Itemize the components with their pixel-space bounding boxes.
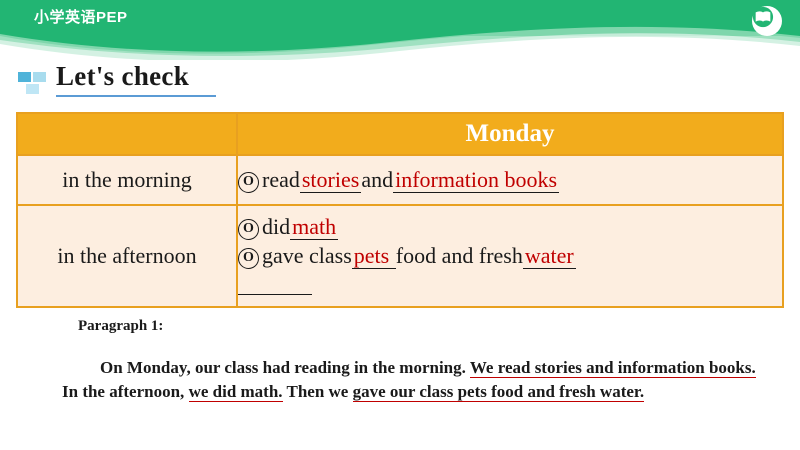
title-underline	[56, 95, 216, 97]
check-marker-icon: O	[238, 219, 259, 240]
paragraph-part1: On Monday, our class had reading in the …	[100, 358, 470, 377]
row-content-afternoon: Odidmath Ogave classpetsfood and freshwa…	[237, 205, 783, 307]
answer-water: water	[523, 244, 576, 268]
page-header: 小学英语PEP	[0, 0, 800, 60]
answer-stories: stories	[300, 168, 361, 192]
paragraph-underline3: gave our class pets food and fresh water…	[353, 382, 645, 402]
afternoon-line-2: Ogave classpetsfood and freshwater	[238, 241, 782, 270]
book-logo-glyph	[752, 6, 774, 28]
row-content-morning: Oreadstoriesandinformation books	[237, 155, 783, 205]
row-label-morning: in the morning	[17, 155, 237, 205]
book-logo-icon	[752, 6, 782, 36]
table-header-corner	[17, 113, 237, 155]
afternoon-line-3-blank	[238, 271, 782, 300]
blank-line	[238, 274, 312, 295]
table-header-monday: Monday	[237, 113, 783, 155]
check-marker-icon: O	[238, 172, 259, 193]
paragraph-part2: In the afternoon,	[62, 382, 189, 401]
paragraph-text: On Monday, our class had reading in the …	[62, 356, 768, 404]
answer-information-books: information books	[393, 168, 559, 192]
text-did: did	[262, 214, 290, 239]
text-gave-class: gave class	[262, 243, 352, 268]
table-row: in the morning Oreadstoriesandinformatio…	[17, 155, 783, 205]
course-title: 小学英语PEP	[34, 6, 128, 27]
paragraph-underline1: We read stories and information books.	[470, 358, 756, 378]
text-food-and-fresh: food and fresh	[396, 243, 523, 268]
answer-pets: pets	[352, 244, 396, 268]
paragraph-part3: Then we	[283, 382, 353, 401]
title-decoration-squares	[18, 72, 50, 94]
checklist-table: Monday in the morning Oreadstoriesandinf…	[16, 112, 784, 308]
paragraph-underline2: we did math.	[189, 382, 283, 402]
text-read: read	[262, 167, 300, 192]
table-row: in the afternoon Odidmath Ogave classpet…	[17, 205, 783, 307]
text-and: and	[361, 167, 393, 192]
afternoon-line-1: Odidmath	[238, 212, 782, 241]
answer-math: math	[290, 215, 338, 239]
row-label-afternoon: in the afternoon	[17, 205, 237, 307]
check-marker-icon: O	[238, 248, 259, 269]
page-title: Let's check	[56, 61, 189, 92]
table-header-row: Monday	[17, 113, 783, 155]
paragraph-label: Paragraph 1:	[78, 318, 163, 335]
